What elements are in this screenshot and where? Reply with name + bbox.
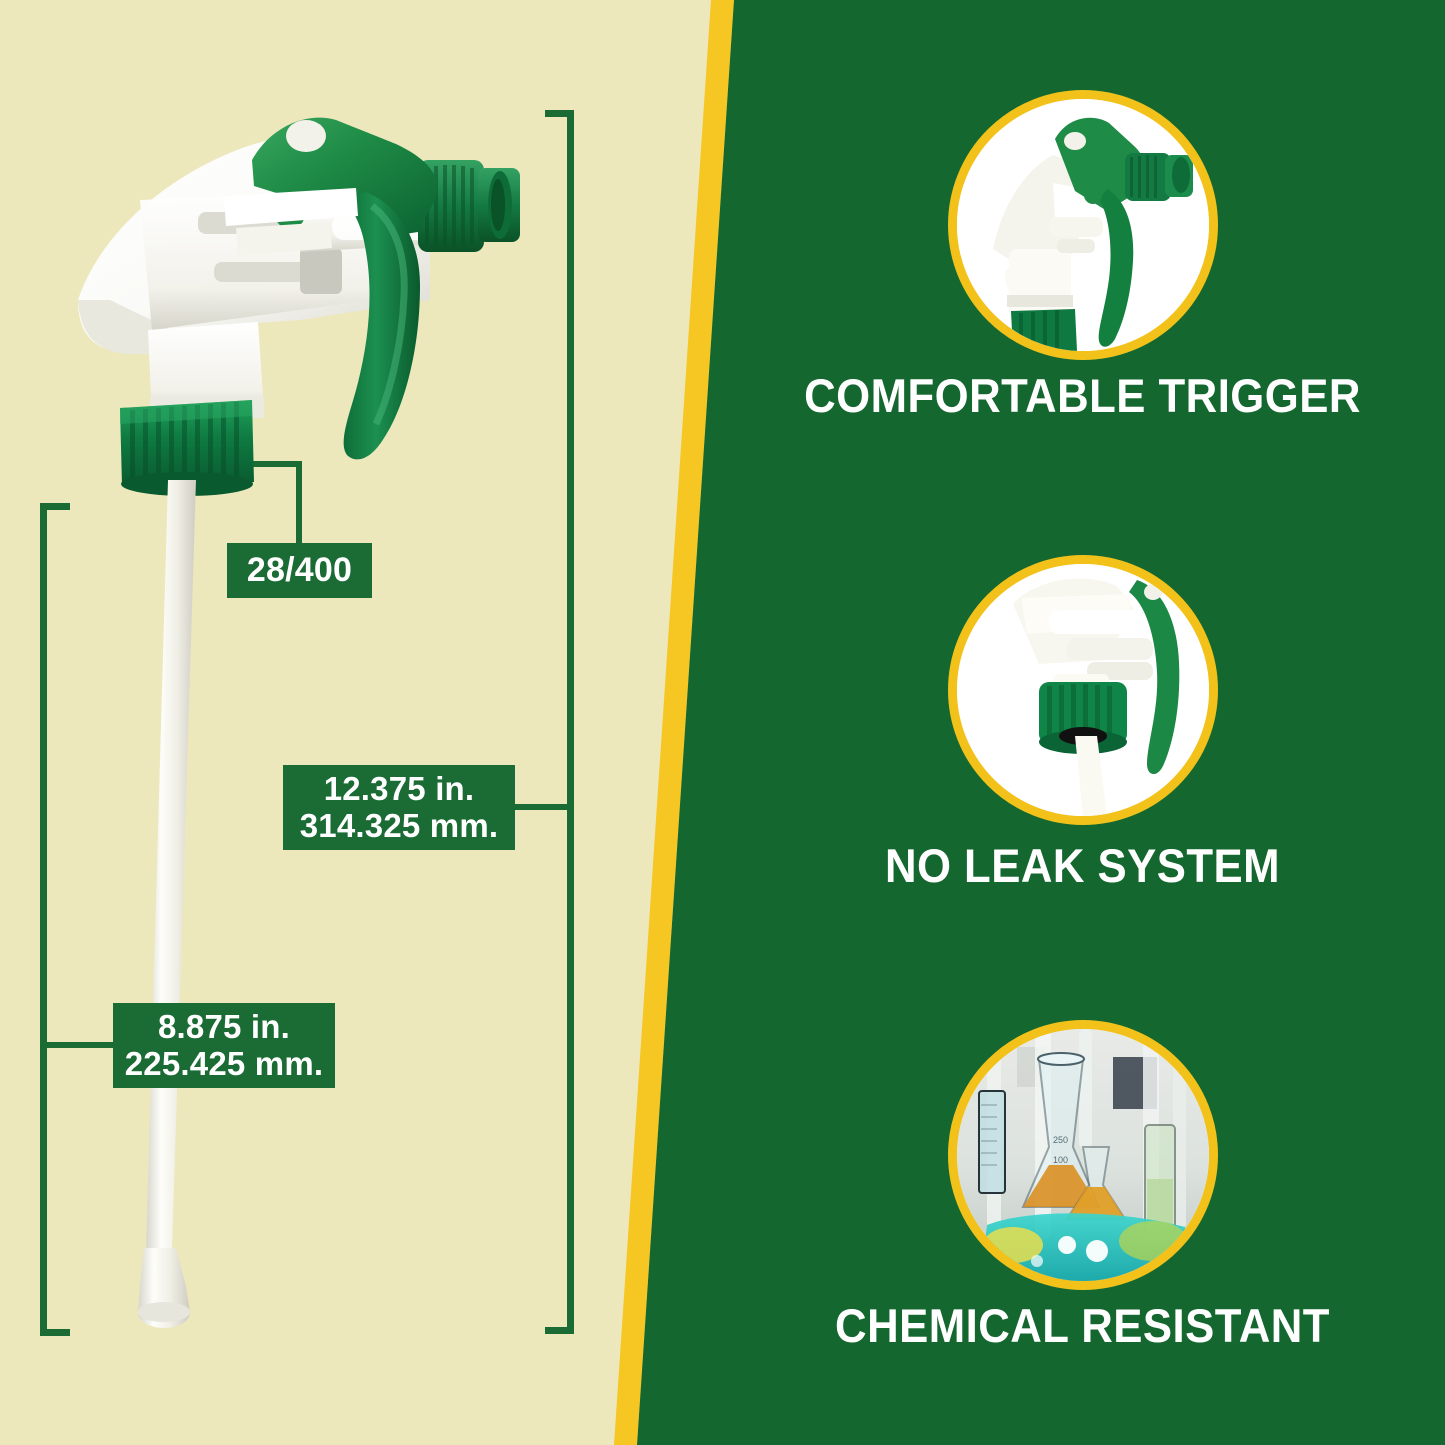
neck-finish-connector-vertical <box>296 461 302 545</box>
trigger-sprayer-illustration <box>0 0 740 1400</box>
dip-tube-length-millimeters: 225.425 mm. <box>125 1046 324 1083</box>
dip-tube-length-connector <box>44 1042 116 1048</box>
dip-tube-length-label: 8.875 in. 225.425 mm. <box>113 1003 335 1088</box>
svg-text:250: 250 <box>1053 1135 1068 1145</box>
feature-title: CHEMICAL RESISTANT <box>745 1298 1419 1353</box>
neck-finish-connector-horizontal <box>253 461 302 467</box>
neck-finish-value: 28/400 <box>247 551 352 589</box>
infographic-canvas: 28/400 12.375 in. 314.325 mm. 8.875 in. … <box>0 0 1445 1445</box>
overall-length-connector <box>513 804 571 810</box>
overall-length-inches: 12.375 in. <box>324 771 475 808</box>
trigger-closeup-photo <box>948 90 1218 360</box>
svg-text:100: 100 <box>1053 1155 1068 1165</box>
overall-length-millimeters: 314.325 mm. <box>300 808 499 845</box>
overall-length-label: 12.375 in. 314.325 mm. <box>283 765 515 850</box>
closure-closeup-photo <box>948 555 1218 825</box>
feature-title: COMFORTABLE TRIGGER <box>745 368 1419 423</box>
feature-title: NO LEAK SYSTEM <box>745 838 1419 893</box>
neck-finish-label: 28/400 <box>227 543 372 598</box>
lab-glassware-photo: 250 100 <box>948 1020 1218 1290</box>
dip-tube-length-inches: 8.875 in. <box>158 1009 290 1046</box>
